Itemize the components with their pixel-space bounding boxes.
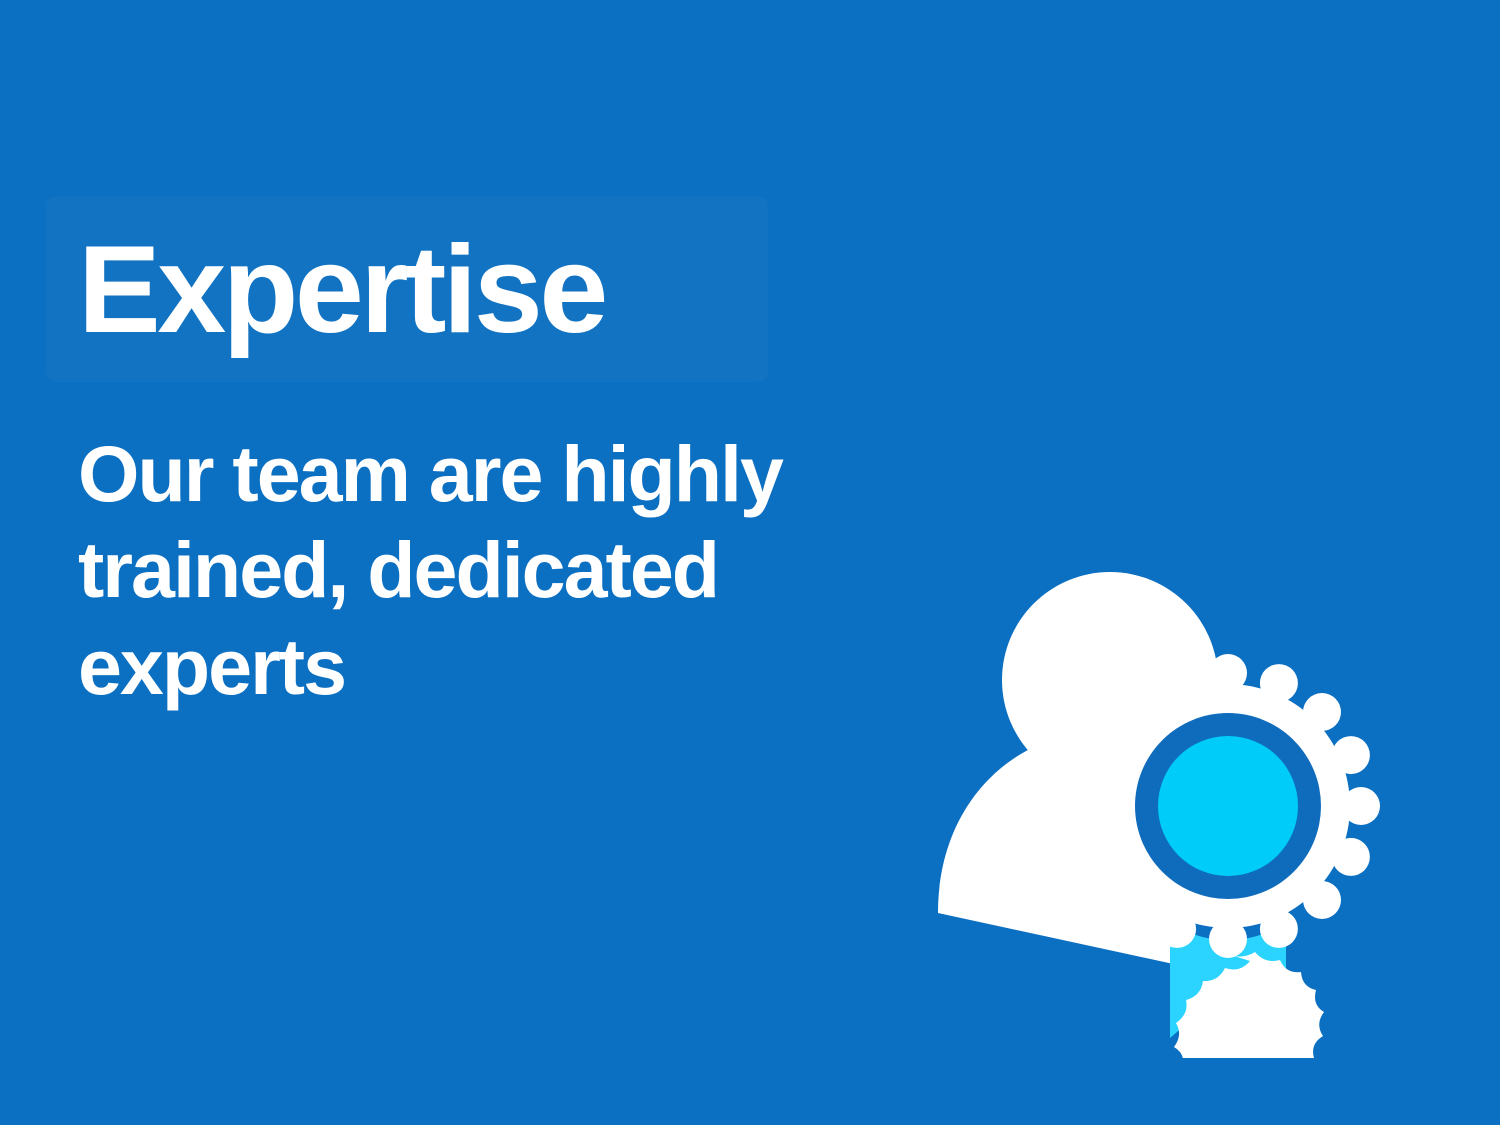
rosette-center	[1158, 736, 1298, 876]
expert-person-award-icon	[900, 498, 1440, 1058]
slide-canvas: Expertise Our team are highly trained, d…	[0, 0, 1500, 1125]
subtitle-line-3: experts	[78, 619, 918, 715]
subtitle-line-2: trained, dedicated	[78, 522, 918, 618]
subtitle-line-1: Our team are highly	[78, 426, 918, 522]
award-rosette	[1076, 654, 1380, 1058]
page-title: Expertise	[78, 228, 908, 352]
subtitle: Our team are highly trained, dedicated e…	[78, 352, 918, 715]
text-block: Expertise Our team are highly trained, d…	[78, 228, 908, 715]
